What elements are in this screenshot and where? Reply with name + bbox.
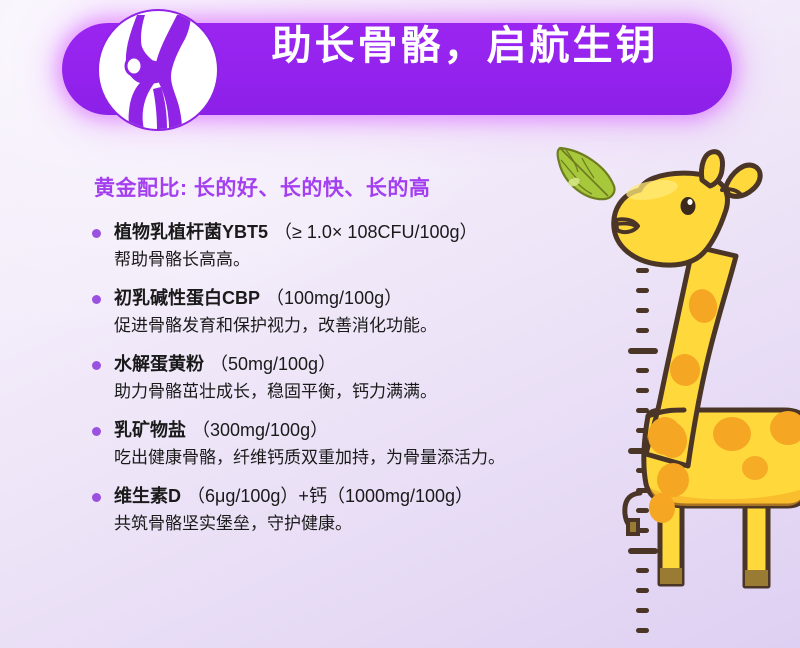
ingredient-content-column: 黄金配比: 长的好、长的快、长的高 植物乳植杆菌YBT5（≥ 1.0× 108C… [92,175,562,549]
bullet-dot-icon [92,295,101,304]
ingredient-dose: （50mg/100g） [210,354,336,374]
ingredient-description: 吃出健康骨骼，纤维钙质双重加持，为骨量添活力。 [114,444,562,471]
ingredient-name: 维生素D [114,486,181,506]
ingredient-name: 植物乳植杆菌YBT5 [114,222,268,242]
bullet-dot-icon [92,427,101,436]
knee-joint-bone-icon [97,9,219,131]
bullet-dot-icon [92,361,101,370]
ingredient-title-row: 植物乳植杆菌YBT5（≥ 1.0× 108CFU/100g） [114,219,562,246]
ingredient-description: 共筑骨骼坚实堡垒，守护健康。 [114,510,562,537]
ingredient-dose: （100mg/100g） [266,288,402,308]
promo-page-root: 助长骨骼，启航生钥 黄金配比: 长的好、长的快、长的高 植物乳植杆菌YBT5（≥… [0,0,800,648]
gold-ratio-heading: 黄金配比: 长的好、长的快、长的高 [94,175,562,203]
giraffe-growth-chart-illustration [540,128,800,648]
ingredient-name: 乳矿物盐 [114,420,186,440]
ingredient-item: 维生素D（6μg/100g）+钙（1000mg/100g） 共筑骨骼坚实堡垒，守… [92,483,562,537]
ingredient-item: 水解蛋黄粉（50mg/100g） 助力骨骼茁壮成长，稳固平衡，钙力满满。 [92,351,562,405]
ingredient-dose: （300mg/100g） [192,420,328,440]
ingredient-item: 植物乳植杆菌YBT5（≥ 1.0× 108CFU/100g） 帮助骨骼长高高。 [92,219,562,273]
ingredient-item: 初乳碱性蛋白CBP（100mg/100g） 促进骨骼发育和保护视力，改善消化功能… [92,285,562,339]
ingredient-description: 帮助骨骼长高高。 [114,246,562,273]
ingredient-item: 乳矿物盐（300mg/100g） 吃出健康骨骼，纤维钙质双重加持，为骨量添活力。 [92,417,562,471]
bullet-dot-icon [92,229,101,238]
ingredient-description: 促进骨骼发育和保护视力，改善消化功能。 [114,312,562,339]
ingredient-dose: （≥ 1.0× 108CFU/100g） [274,222,477,242]
ingredient-name: 水解蛋黄粉 [114,354,204,374]
ingredient-title-row: 维生素D（6μg/100g）+钙（1000mg/100g） [114,483,562,510]
bullet-dot-icon [92,493,101,502]
ingredient-dose: （6μg/100g）+钙（1000mg/100g） [187,486,473,506]
ingredient-title-row: 水解蛋黄粉（50mg/100g） [114,351,562,378]
ingredient-title-row: 初乳碱性蛋白CBP（100mg/100g） [114,285,562,312]
ingredient-description: 助力骨骼茁壮成长，稳固平衡，钙力满满。 [114,378,562,405]
ingredient-name: 初乳碱性蛋白CBP [114,288,260,308]
ingredient-title-row: 乳矿物盐（300mg/100g） [114,417,562,444]
page-title: 助长骨骼，启航生钥 [230,24,700,68]
